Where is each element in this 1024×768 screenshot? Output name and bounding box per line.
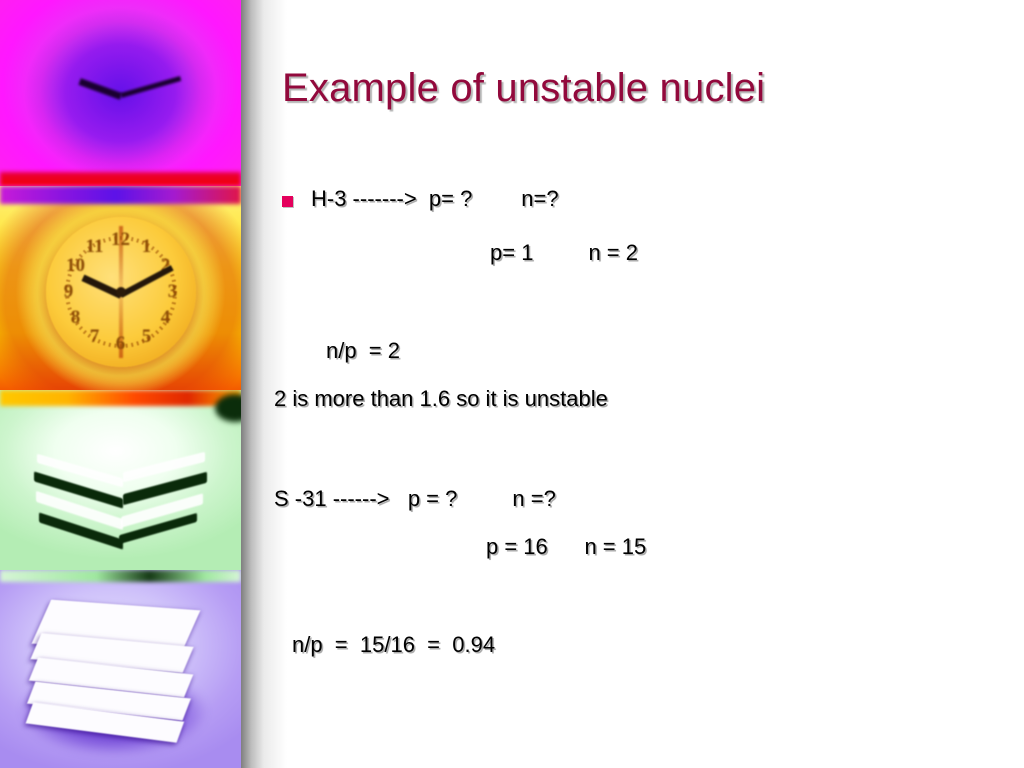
slide-content: Example of unstable nuclei H-3 -------> …	[268, 0, 1024, 768]
slide: 121234567891011	[0, 0, 1024, 768]
line-np-2: n/p = 15/16 = 0.94	[292, 634, 495, 656]
book-shape	[34, 451, 212, 555]
page-title: Example of unstable nuclei	[282, 66, 1002, 111]
paper-stack-purple-image	[0, 570, 241, 768]
image-strip: 121234567891011	[0, 0, 241, 768]
paper-stack	[24, 602, 212, 749]
bullet-item-h3: H-3 -------> p= ? n=?	[282, 188, 559, 210]
line-np-1: n/p = 2	[326, 340, 400, 362]
clock-magenta-image	[0, 0, 241, 186]
line-unstable-conclusion: 2 is more than 1.6 so it is unstable	[274, 388, 608, 410]
line-h3-head: H-3 -------> p= ? n=?	[311, 188, 559, 210]
book-blob	[215, 394, 241, 422]
clock-face-yellow: 121234567891011	[46, 217, 196, 367]
open-book-green-image	[0, 390, 241, 570]
square-bullet-icon	[282, 196, 293, 207]
line-s31-values: p = 16 n = 15	[486, 536, 646, 558]
line-s31-head: S -31 ------> p = ? n =?	[274, 488, 556, 510]
clock-yellow-image: 121234567891011	[0, 186, 241, 390]
line-h3-values: p= 1 n = 2	[490, 242, 638, 264]
